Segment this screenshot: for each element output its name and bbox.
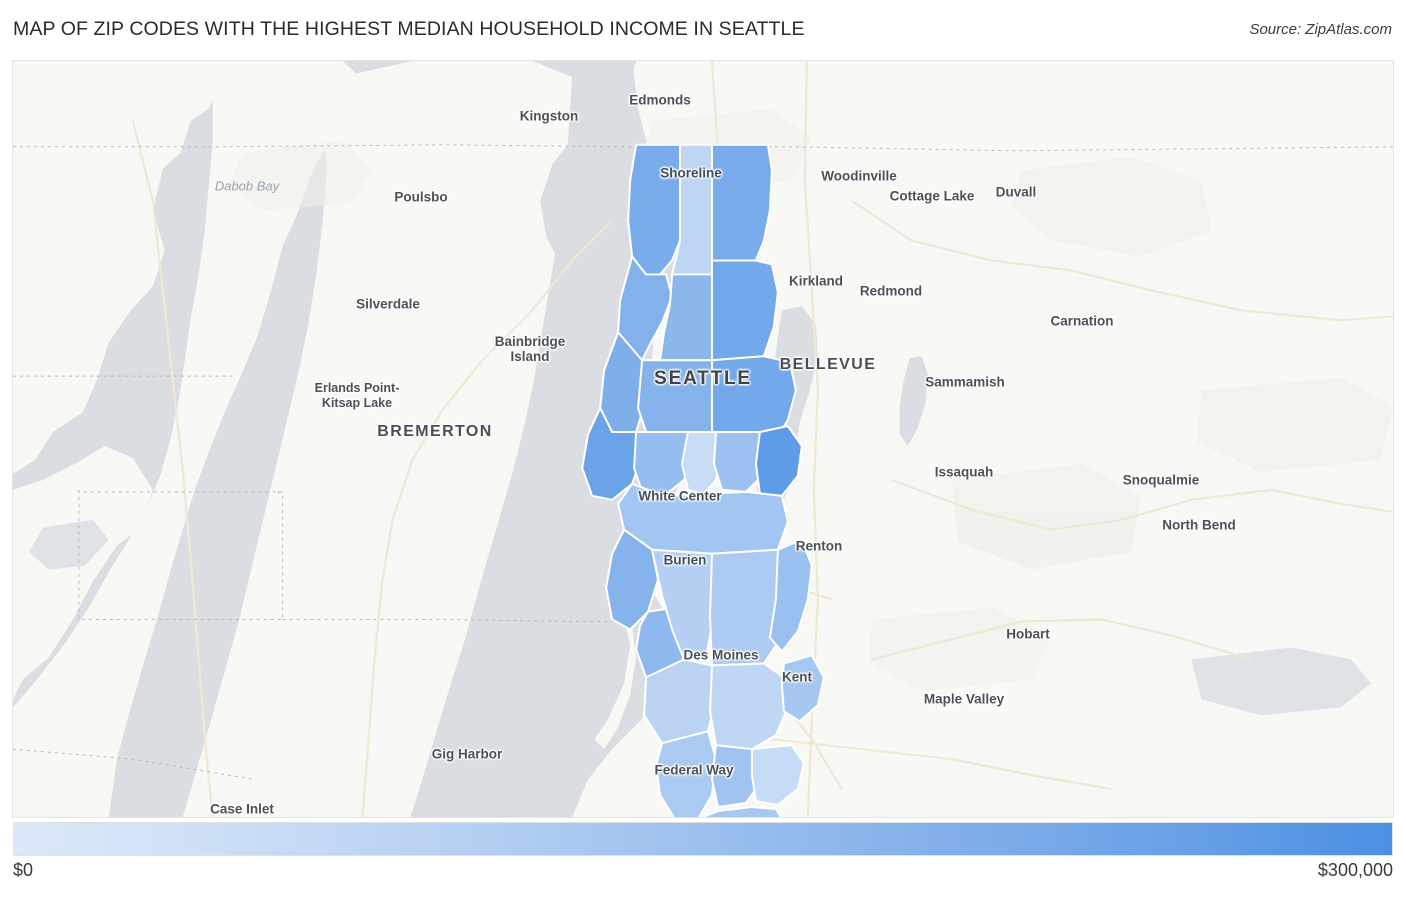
legend-min-label: $0 (13, 860, 33, 881)
zip-area-shoreline-nw[interactable] (628, 145, 680, 275)
legend-gradient-bar (13, 822, 1393, 856)
page-title: MAP OF ZIP CODES WITH THE HIGHEST MEDIAN… (13, 18, 805, 41)
zip-area-burien[interactable] (656, 731, 716, 817)
page-header: MAP OF ZIP CODES WITH THE HIGHEST MEDIAN… (0, 0, 1406, 58)
zip-area-shoreline-ne[interactable] (712, 145, 772, 261)
map-panel[interactable]: EdmondsKingstonWoodinvilleCottage LakeDu… (12, 60, 1394, 818)
map-canvas[interactable] (13, 61, 1393, 817)
legend-max-label: $300,000 (1318, 860, 1393, 881)
source-attribution: Source: ZipAtlas.com (1249, 21, 1392, 38)
legend-labels: $0 $300,000 (13, 860, 1393, 881)
